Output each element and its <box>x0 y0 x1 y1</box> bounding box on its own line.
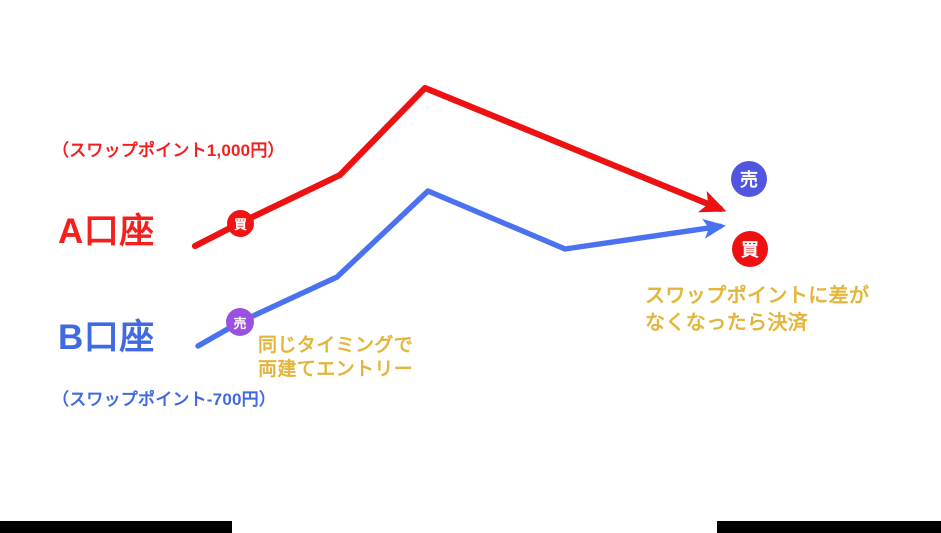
badge-sell-entry: 売 <box>226 308 254 336</box>
line-series-account-b <box>198 191 720 346</box>
swap-point-a-label: （スワップポイント1,000円） <box>52 140 285 161</box>
account-a-label: A口座 <box>58 210 155 254</box>
line-series-account-a <box>195 88 720 246</box>
close-annotation-line-1: スワップポイントに差が <box>645 283 869 310</box>
account-b-label: B口座 <box>58 316 155 360</box>
bottom-bar-left <box>0 521 232 533</box>
badge-buy-exit: 買 <box>732 231 768 267</box>
swap-point-b-label: （スワップポイント-700円） <box>52 389 276 410</box>
bottom-bar-right <box>717 521 941 533</box>
diagram-canvas: （スワップポイント1,000円） A口座 B口座 （スワップポイント-700円）… <box>0 0 941 533</box>
entry-annotation-line-1: 同じタイミングで <box>258 334 413 358</box>
close-annotation: スワップポイントに差が なくなったら決済 <box>645 283 869 337</box>
badge-sell-exit: 売 <box>731 161 767 197</box>
badge-buy-entry: 買 <box>227 210 254 237</box>
swap-arbitrage-chart <box>0 0 941 533</box>
entry-annotation: 同じタイミングで 両建てエントリー <box>258 334 413 382</box>
close-annotation-line-2: なくなったら決済 <box>645 310 869 337</box>
entry-annotation-line-2: 両建てエントリー <box>258 358 413 382</box>
